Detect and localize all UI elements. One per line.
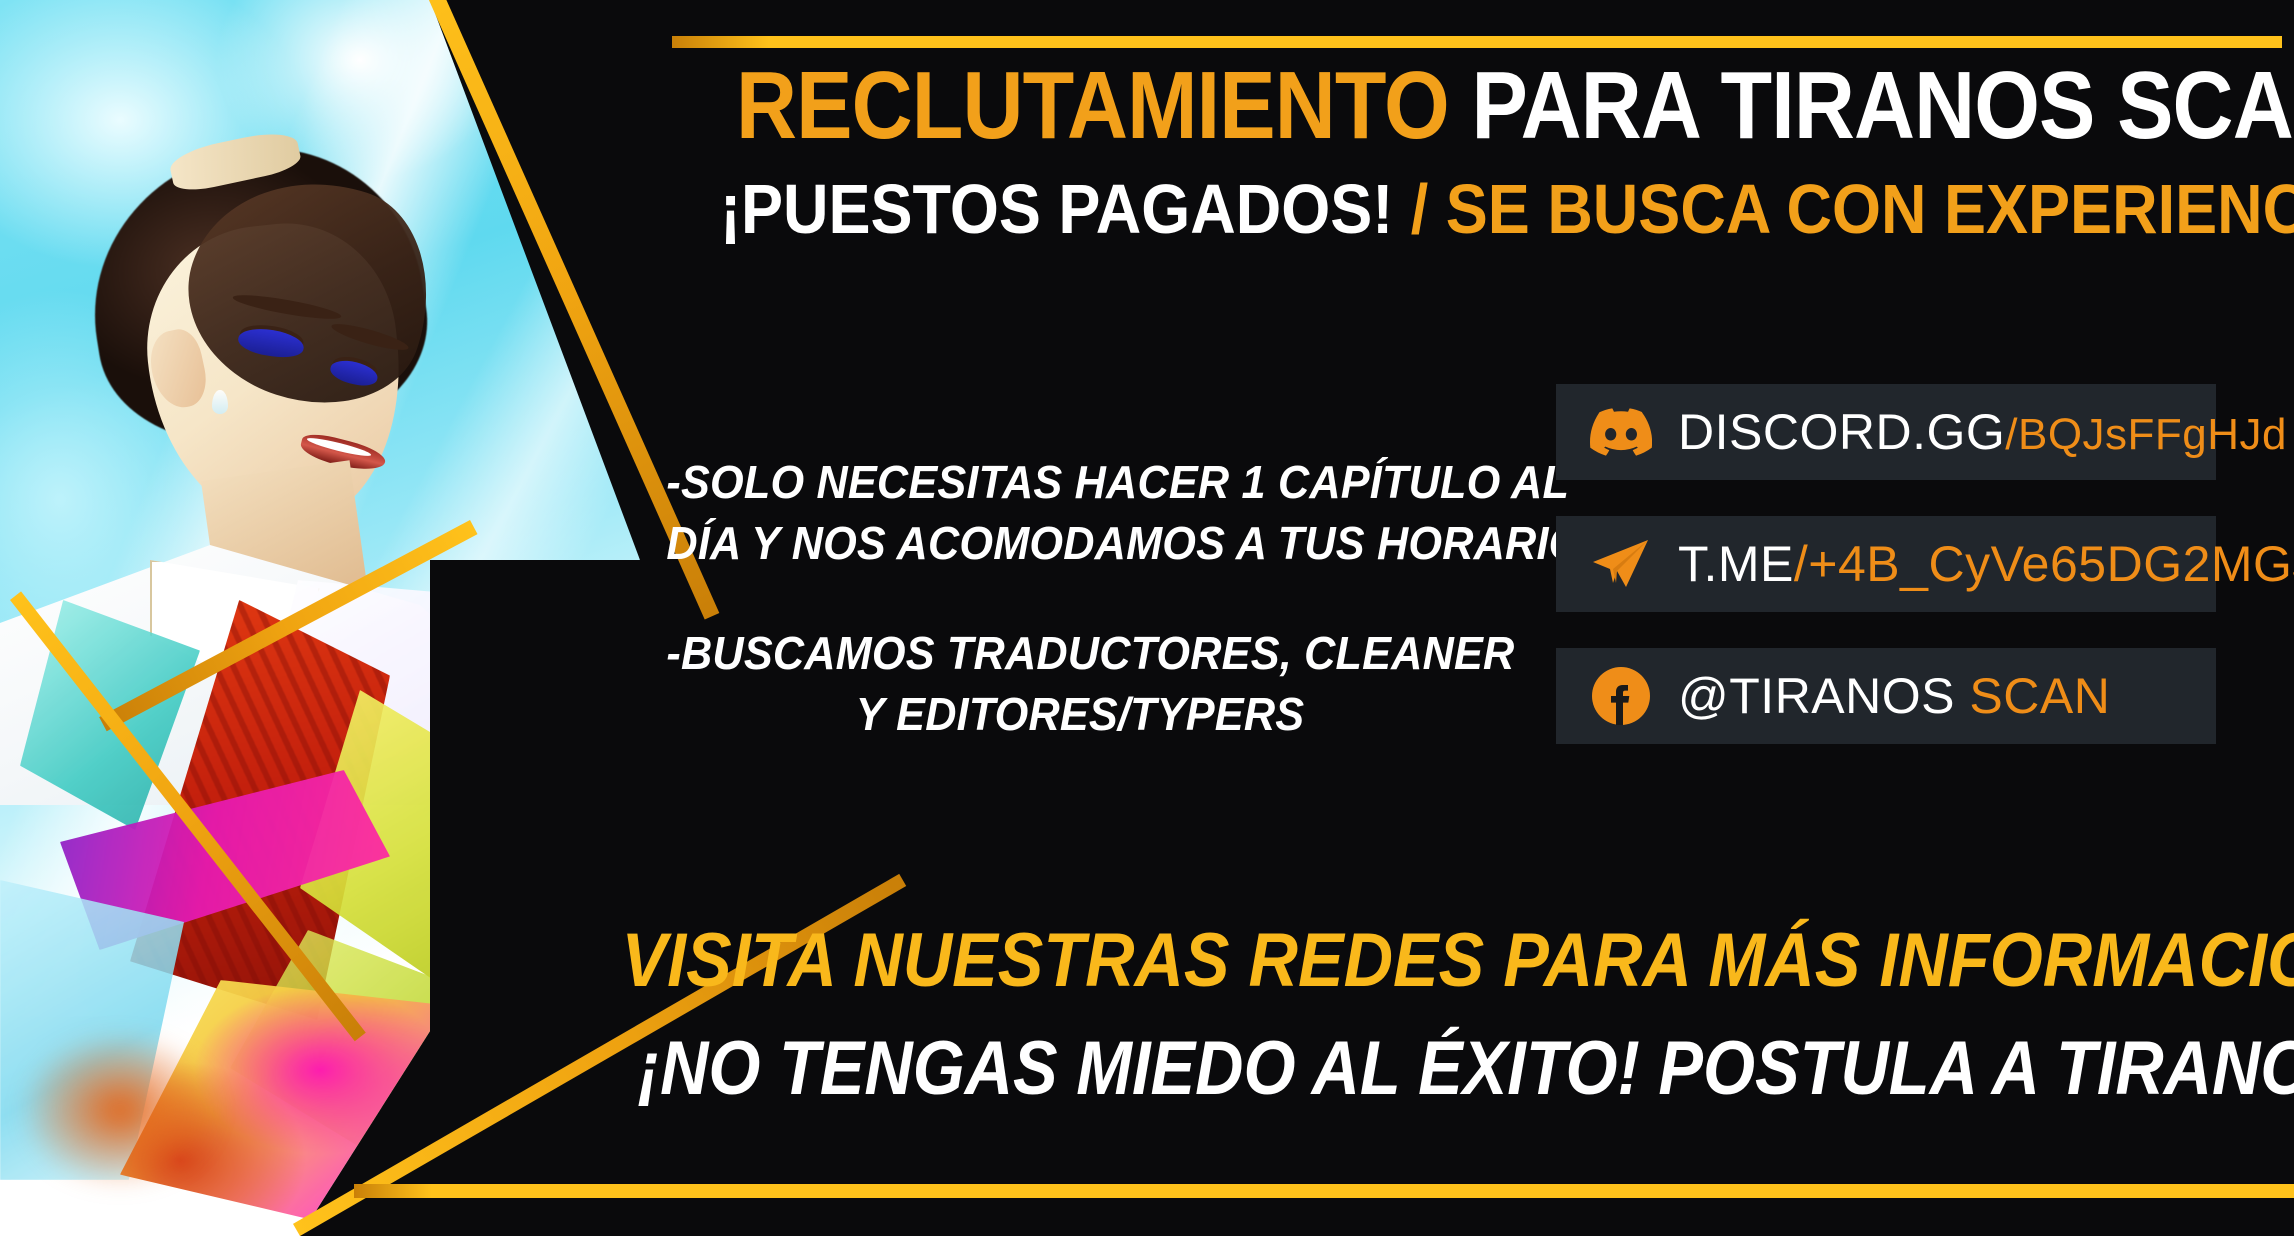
bullet-line: DÍA Y NOS ACOMODAMOS A TUS HORARIOS (666, 513, 1493, 574)
contact-label-discord: DISCORD.GG/BQJsFFgHJd (1678, 407, 2287, 457)
cta-line-secondary: ¡NO TENGAS MIEDO AL ÉXITO! POSTULA A TIR… (638, 1024, 2072, 1114)
contact-row-facebook[interactable]: @TIRANOS SCAN (1556, 648, 2216, 744)
gold-rule-top (672, 36, 2282, 48)
character-sweat-drop (212, 390, 228, 414)
cta-line-primary: VISITA NUESTRAS REDES PARA MÁS INFORMACI… (622, 916, 2089, 1006)
page-subtitle-accent: / SE BUSCA CON EXPERIENCIA (1411, 170, 2294, 248)
page-title: RECLUTAMIENTO PARA TIRANOS SCAN (736, 56, 2144, 156)
bullet-line: -SOLO NECESITAS HACER 1 CAPÍTULO AL (666, 452, 1493, 513)
bullet-line: Y EDITORES/TYPERS (666, 684, 1493, 745)
contact-row-discord[interactable]: DISCORD.GG/BQJsFFgHJd (1556, 384, 2216, 480)
contact-label-facebook: @TIRANOS SCAN (1678, 671, 2110, 721)
call-to-action-block: VISITA NUESTRAS REDES PARA MÁS INFORMACI… (540, 916, 2170, 1113)
artwork-shard-orange-blur (10, 1000, 260, 1230)
contact-label-accent: /BQJsFFgHJd (2005, 410, 2287, 459)
facebook-icon (1590, 665, 1652, 727)
gold-rule-bottom (354, 1184, 2294, 1198)
bullet-line: -BUSCAMOS TRADUCTORES, CLEANER (666, 623, 1493, 684)
contact-label-telegram: T.ME/+4B_CyVe65DG2MGJh (1678, 539, 2294, 589)
contact-label-accent: /+4B_CyVe65DG2MGJh (1794, 536, 2294, 592)
bullet-item-roles: -BUSCAMOS TRADUCTORES, CLEANER Y EDITORE… (640, 623, 1520, 744)
contact-label-white: DISCORD.GG (1678, 404, 2005, 460)
contact-label-white: T.ME (1678, 536, 1794, 592)
headline-block: RECLUTAMIENTO PARA TIRANOS SCAN ¡PUESTOS… (640, 56, 2240, 246)
contact-row-telegram[interactable]: T.ME/+4B_CyVe65DG2MGJh (1556, 516, 2216, 612)
page-subtitle: ¡PUESTOS PAGADOS! / SE BUSCA CON EXPERIE… (720, 172, 2160, 246)
contact-list: DISCORD.GG/BQJsFFgHJd T.ME/+4B_CyVe65DG2… (1556, 384, 2216, 744)
bullet-list: -SOLO NECESITAS HACER 1 CAPÍTULO AL DÍA … (640, 452, 1520, 795)
recruitment-banner: RECLUTAMIENTO PARA TIRANOS SCAN ¡PUESTOS… (0, 0, 2294, 1236)
contact-label-accent: SCAN (1969, 668, 2110, 724)
telegram-icon (1590, 533, 1652, 595)
discord-icon (1590, 401, 1652, 463)
page-subtitle-white: ¡PUESTOS PAGADOS! (720, 170, 1393, 248)
page-title-accent: RECLUTAMIENTO (736, 52, 1449, 159)
bullet-item-schedule: -SOLO NECESITAS HACER 1 CAPÍTULO AL DÍA … (640, 452, 1520, 573)
contact-label-white: @TIRANOS (1678, 668, 1955, 724)
page-title-white: PARA TIRANOS SCAN (1471, 52, 2294, 159)
